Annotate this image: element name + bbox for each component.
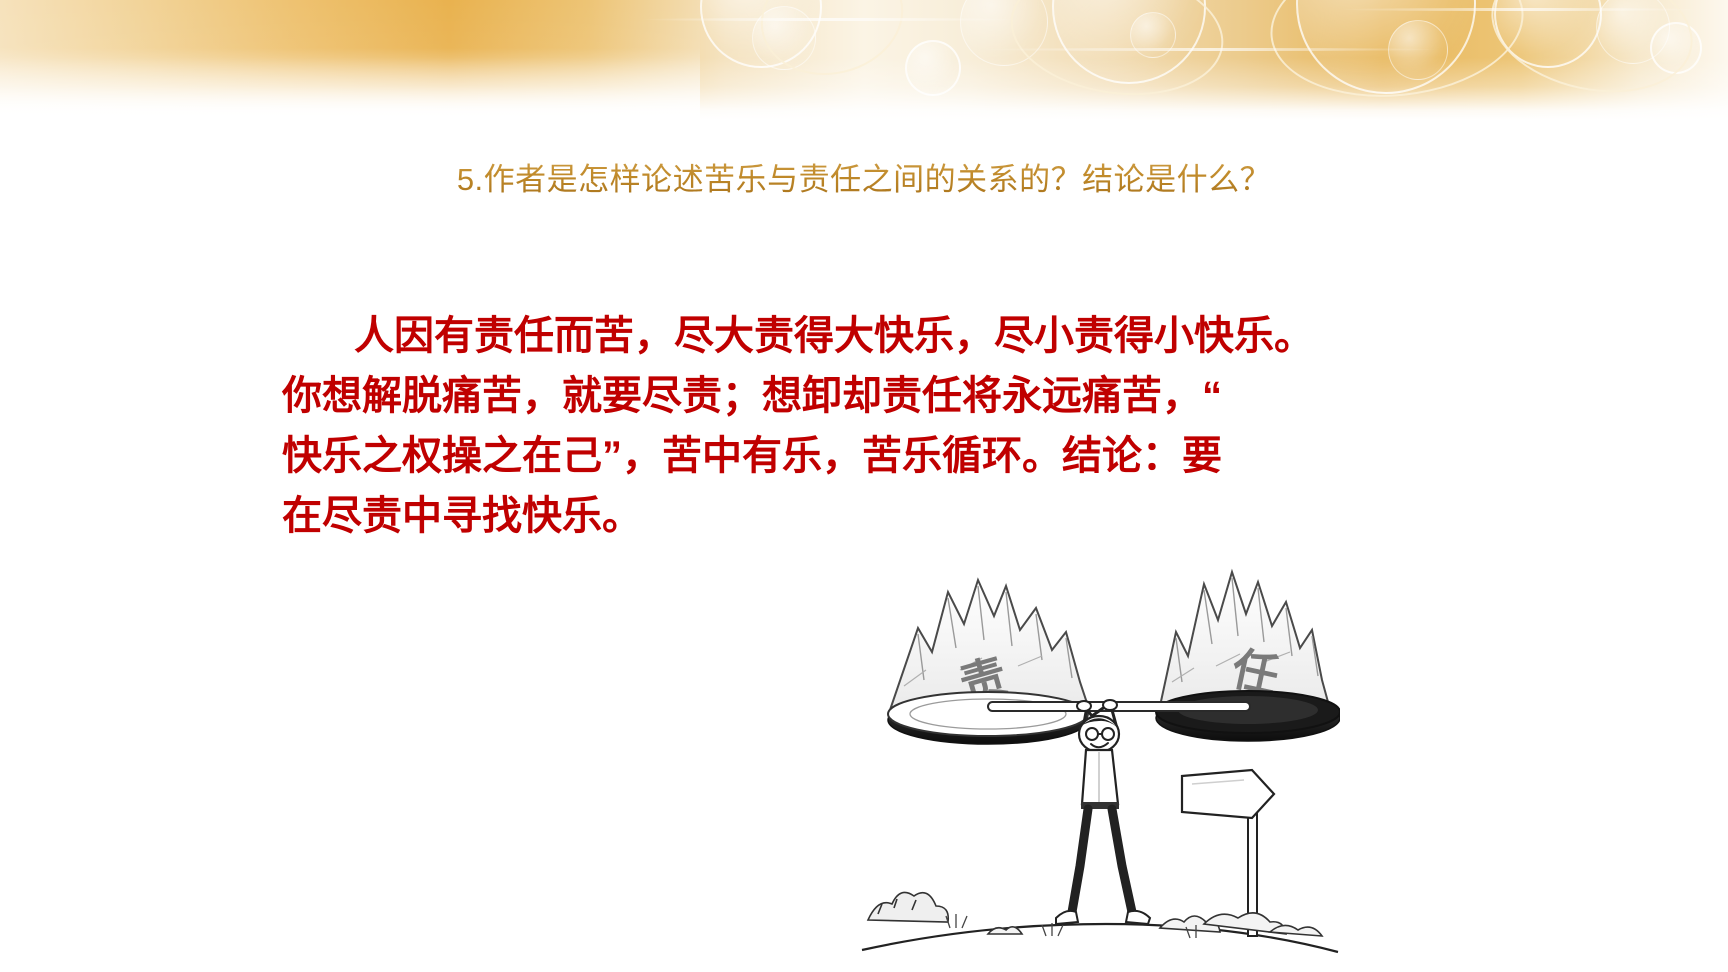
slide-canvas: 5.作者是怎样论述苦乐与责任之间的关系的？结论是什么？ 人因有责任而苦，尽大责得… <box>0 0 1728 972</box>
barbell-bar <box>988 702 1250 711</box>
light-streak <box>980 48 1440 51</box>
illustration-man-lifting-mountains: 责 任 <box>860 520 1340 972</box>
page-title: 5.作者是怎样论述苦乐与责任之间的关系的？结论是什么？ <box>0 154 1728 199</box>
signpost <box>1182 770 1274 936</box>
body-line-2: 你想解脱痛苦，就要尽责；想卸却责任将永远痛苦，“ <box>282 366 1292 426</box>
answer-body-text: 人因有责任而苦，尽大责得大快乐，尽小责得小快乐。 你想解脱痛苦，就要尽责；想卸却… <box>282 306 1292 546</box>
decorative-top-banner <box>0 0 1728 120</box>
banner-left-fade <box>0 0 700 120</box>
bubble-icon <box>905 40 961 96</box>
left-weight-disc <box>888 692 1088 744</box>
body-line-3: 快乐之权操之在己”，苦中有乐，苦乐循环。结论：要 <box>282 426 1292 486</box>
body-line-1: 人因有责任而苦，尽大责得大快乐，尽小责得小快乐。 <box>282 306 1292 366</box>
right-weight-disc <box>1156 691 1340 741</box>
light-streak <box>1340 8 1700 11</box>
